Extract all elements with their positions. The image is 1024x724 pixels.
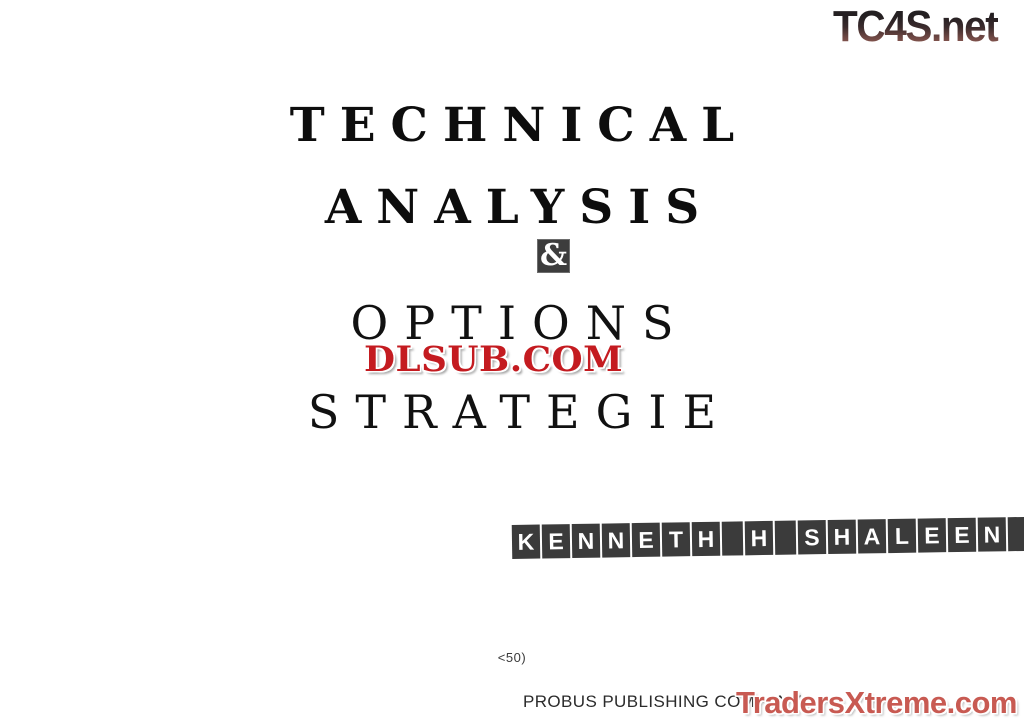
author-letter-tile: E bbox=[632, 523, 661, 557]
author-letter-tile: L bbox=[888, 519, 917, 553]
author-letter-tile: H bbox=[692, 522, 721, 556]
author-letter-tile: E bbox=[948, 518, 977, 552]
author-letter-tile bbox=[775, 521, 797, 555]
cover-author-tile-block: KENNETH H SHALEEN bbox=[511, 515, 1024, 560]
cover-title-line-analysis: ANALYSIS bbox=[0, 184, 1024, 231]
author-letter-tile: E bbox=[918, 518, 947, 552]
author-letter-tile: H bbox=[828, 520, 857, 554]
cover-ampersand-box: & bbox=[537, 239, 570, 273]
book-cover-page: TC4S.net TECHNICAL ANALYSIS & OPTIONS DL… bbox=[0, 0, 1024, 724]
author-letter-tile: N bbox=[602, 523, 631, 557]
watermark-tc4s: TC4S.net bbox=[833, 2, 1019, 54]
author-letter-tile: H bbox=[745, 521, 774, 555]
watermark-dlsub: DLSUB.COM bbox=[364, 340, 654, 382]
cover-title-line-technical: TECHNICAL bbox=[0, 102, 1024, 149]
author-letter-tile: K bbox=[512, 525, 541, 559]
watermark-tradersxtreme: TradersXtreme.com bbox=[736, 684, 1024, 724]
author-letter-tile: E bbox=[542, 524, 571, 558]
author-letter-tile bbox=[1008, 516, 1024, 551]
author-letter-tile bbox=[722, 521, 744, 555]
cover-title-line-strategie: STRATEGIE bbox=[0, 389, 1024, 435]
scan-artifact-text: <50) bbox=[0, 650, 1024, 665]
watermark-dlsub-text: DLSUB.COM bbox=[364, 340, 660, 380]
author-letter-tile: T bbox=[662, 522, 691, 556]
author-letter-tile: A bbox=[858, 519, 887, 553]
watermark-tc4s-text: TC4S.net bbox=[833, 2, 1004, 52]
author-letter-tile: N bbox=[572, 524, 601, 558]
author-letter-tile: S bbox=[798, 520, 827, 554]
watermark-tradersxtreme-text: TradersXtreme.com bbox=[736, 684, 1024, 722]
author-letter-tile: N bbox=[978, 517, 1007, 551]
